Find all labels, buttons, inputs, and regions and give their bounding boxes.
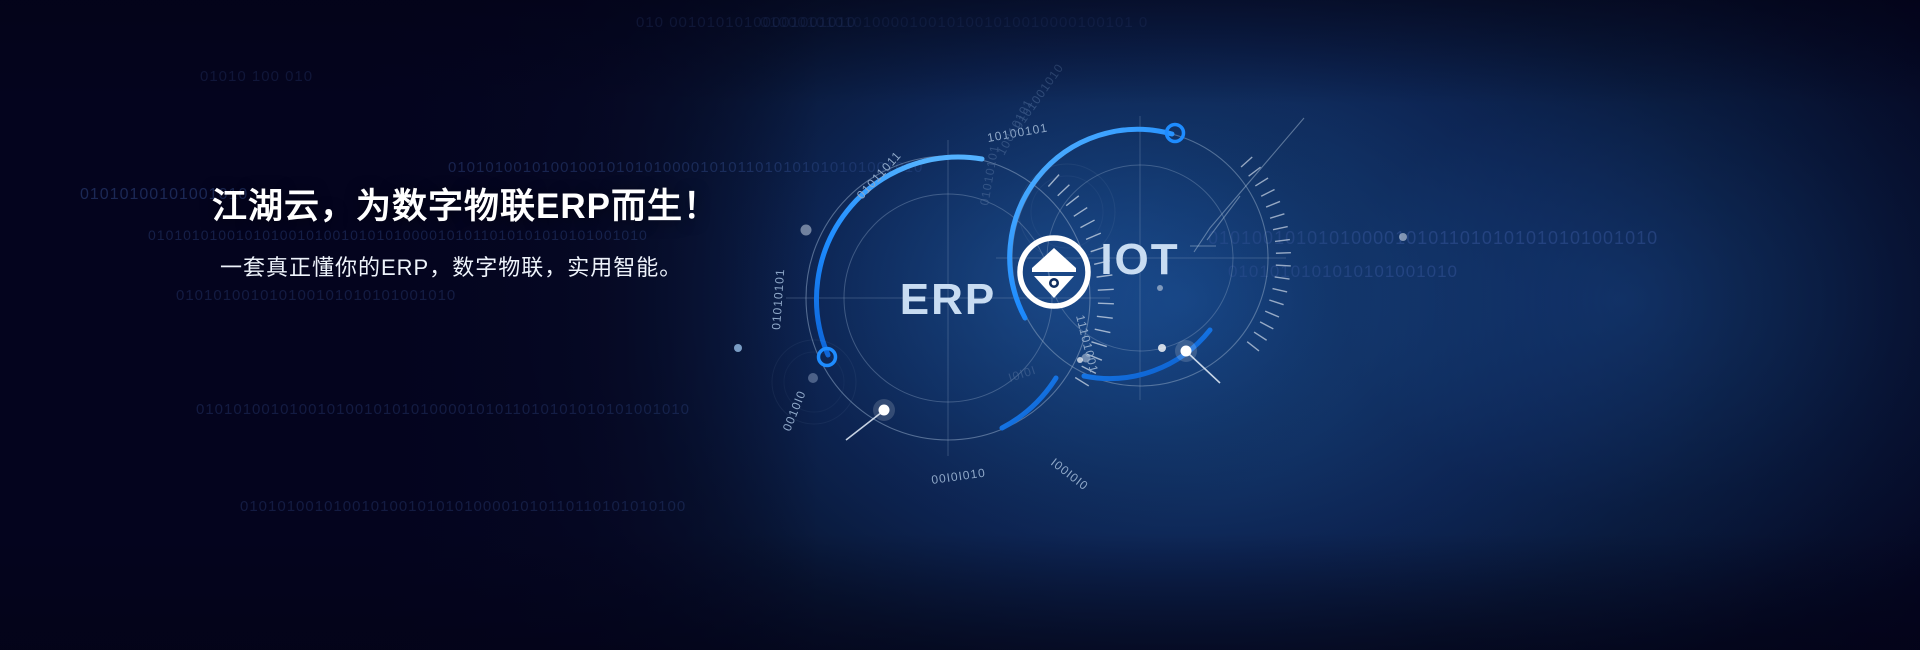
hero-subline: 一套真正懂你的ERP，数字物联，实用智能。 [212,251,932,285]
erp-iot-illustration: ERP [720,0,1920,650]
particle [734,344,742,352]
particle [1077,357,1083,363]
binary-decoration-text: 01010 100 010 [200,68,313,85]
logo-center-dot-inner [1052,281,1057,286]
hero-headline: 江湖云，为数字物联ERP而生！ [212,183,932,231]
binary-decoration-text: 0101010010100101001010101000010101101101… [240,498,686,515]
particle [1157,285,1163,291]
logo-roof-base [1032,268,1076,272]
binary-decoration-text: 010101001010100101010101001010 [176,287,456,304]
background-left-fade [0,0,820,650]
particle [1399,233,1407,241]
particle [1158,344,1166,352]
particle [808,373,818,383]
iot-label: IOT [1100,235,1179,284]
hero-copy: 江湖云，为数字物联ERP而生！ 一套真正懂你的ERP，数字物联，实用智能。 [212,183,932,285]
binary-decoration-text: 0101010010100101001010101000010101101010… [196,401,690,418]
hero-banner: 010 001010101000010010100100010101010000… [0,0,1920,650]
